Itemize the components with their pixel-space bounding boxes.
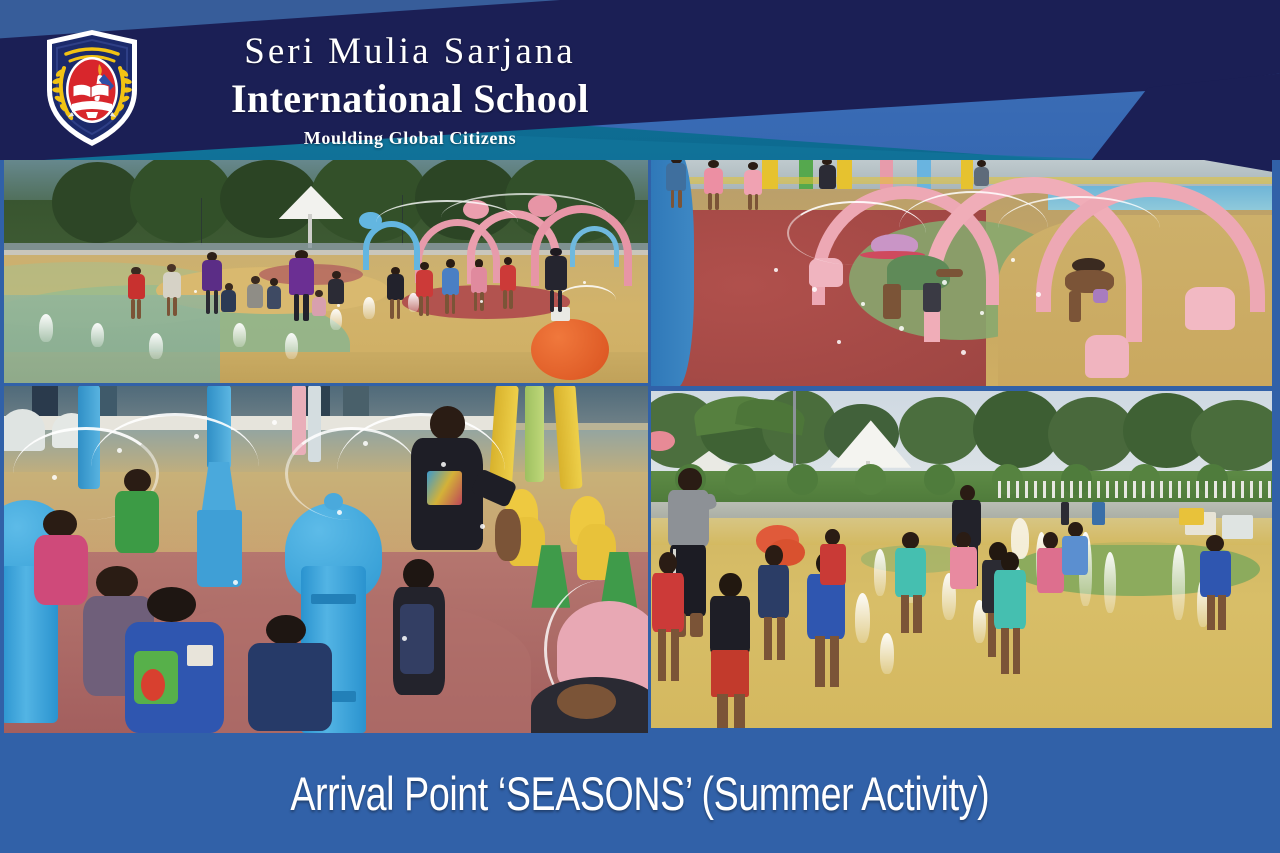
collage-gutter-horizontal-left <box>0 383 651 386</box>
school-name-line2: International School <box>150 75 670 122</box>
collage-gutter-vertical <box>648 148 651 733</box>
school-name-block: Seri Mulia Sarjana International School … <box>150 30 670 150</box>
photo-bottom-right <box>650 390 1272 728</box>
school-name-line1: Seri Mulia Sarjana <box>150 30 670 74</box>
collage-gutter-left <box>0 148 4 733</box>
photo-top-left <box>0 148 648 385</box>
photo-collage <box>0 148 1272 733</box>
collage-gutter-horizontal-right <box>650 386 1280 391</box>
poster-header: Seri Mulia Sarjana International School … <box>0 0 1280 160</box>
school-tagline: Moulding Global Citizens <box>150 126 670 150</box>
school-crest-logo <box>42 28 142 148</box>
photo-top-right <box>650 148 1272 388</box>
photo-bottom-left <box>0 385 648 733</box>
collage-gutter-right <box>1272 148 1280 733</box>
caption-text: Arrival Point ‘SEASONS’ (Summer Activity… <box>291 766 990 821</box>
caption-band: Arrival Point ‘SEASONS’ (Summer Activity… <box>0 733 1280 853</box>
poster: Seri Mulia Sarjana International School … <box>0 0 1280 853</box>
